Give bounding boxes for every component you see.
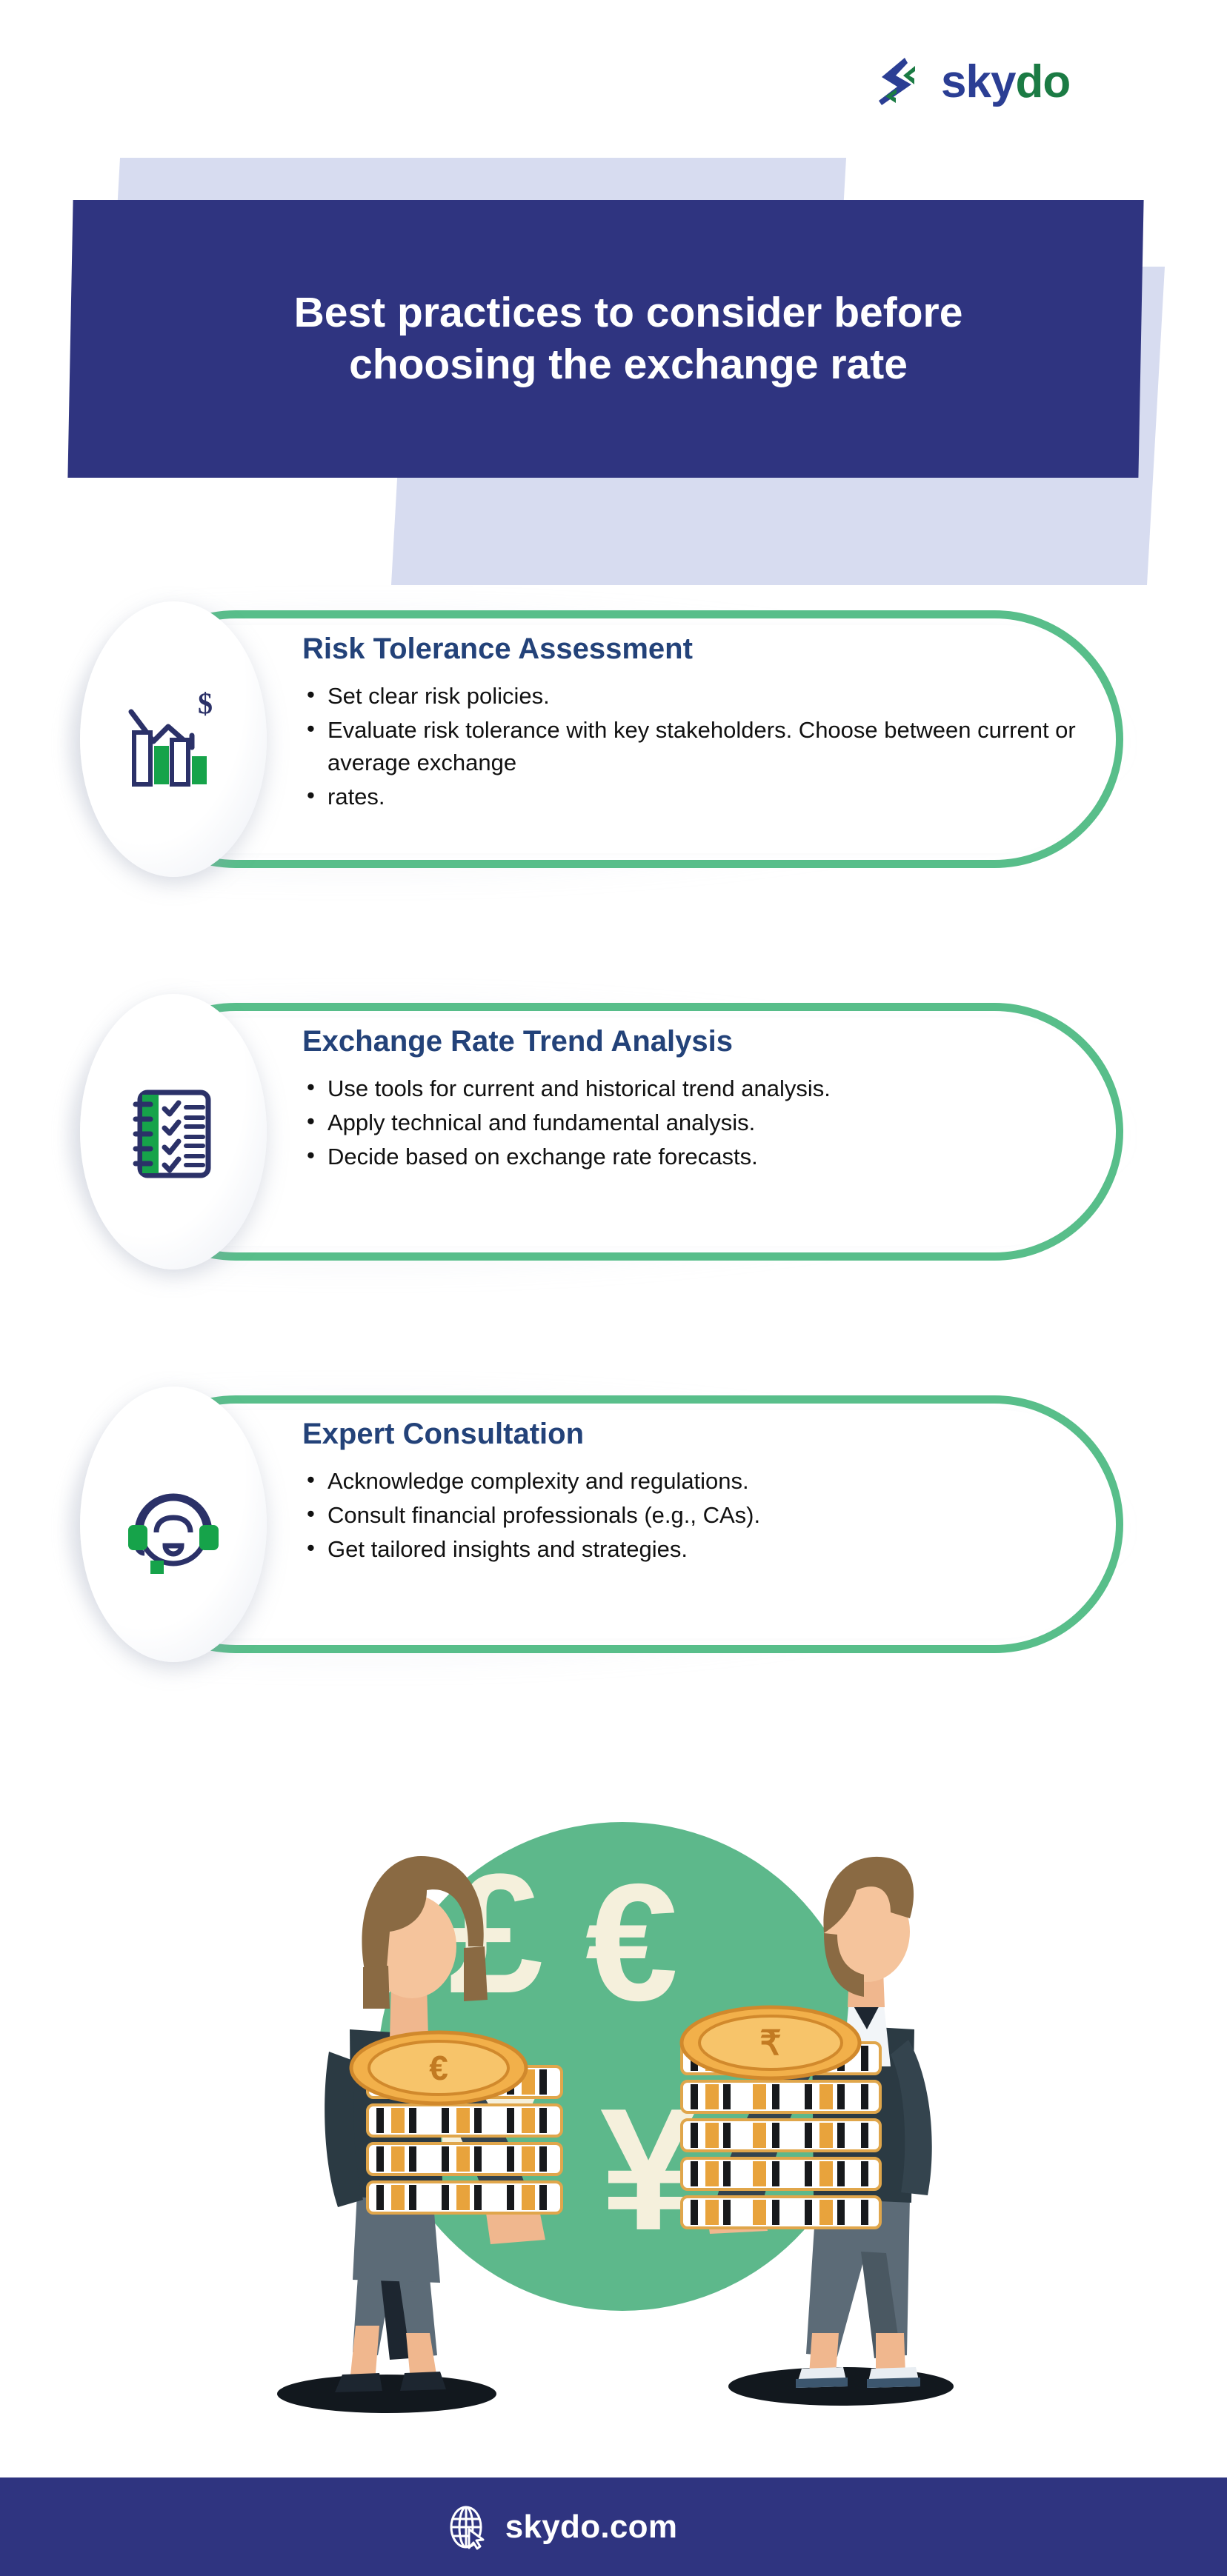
card-bullet-list: Use tools for current and historical tre… bbox=[302, 1072, 1110, 1173]
declining-bar-chart-dollar-icon: $ bbox=[118, 684, 229, 795]
card-text: Expert Consultation Acknowledge complexi… bbox=[302, 1416, 1110, 1567]
list-item: Get tailored insights and strategies. bbox=[302, 1533, 1110, 1566]
headset-support-agent-icon bbox=[118, 1469, 229, 1580]
checklist-notepad-icon bbox=[118, 1076, 229, 1187]
footer-bar: skydo.com bbox=[0, 2477, 1227, 2576]
globe-cursor-icon bbox=[446, 2504, 489, 2550]
svg-text:€: € bbox=[585, 1849, 678, 2035]
card-text: Exchange Rate Trend Analysis Use tools f… bbox=[302, 1024, 1110, 1175]
page-title: Best practices to consider before choosi… bbox=[236, 287, 1021, 390]
coin-symbol-left: € bbox=[429, 2049, 448, 2087]
practice-card[interactable]: Exchange Rate Trend Analysis Use tools f… bbox=[65, 998, 1162, 1272]
card-text: Risk Tolerance Assessment Set clear risk… bbox=[302, 631, 1110, 815]
header-banner-panel: Best practices to consider before choosi… bbox=[67, 200, 1143, 478]
list-item: Evaluate risk tolerance with key stakeho… bbox=[302, 714, 1110, 779]
card-icon-badge bbox=[80, 1387, 267, 1662]
card-icon-badge bbox=[80, 994, 267, 1269]
list-item: Acknowledge complexity and regulations. bbox=[302, 1465, 1110, 1498]
header-banner: Best practices to consider before choosi… bbox=[0, 137, 1227, 515]
logo-word-do: do bbox=[1015, 56, 1070, 107]
practice-card[interactable]: Expert Consultation Acknowledge complexi… bbox=[65, 1391, 1162, 1665]
list-item: Set clear risk policies. bbox=[302, 680, 1110, 713]
list-item: Consult financial professionals (e.g., C… bbox=[302, 1499, 1110, 1532]
skydo-chevron-logo-icon bbox=[873, 53, 931, 111]
logo-word-sky: sky bbox=[941, 56, 1015, 107]
practice-card[interactable]: $ Risk Tolerance Assessment Set clear ri… bbox=[65, 606, 1162, 880]
ground-shadow-left bbox=[277, 2375, 496, 2413]
svg-text:$: $ bbox=[198, 687, 213, 720]
card-icon-badge: $ bbox=[80, 601, 267, 877]
card-bullet-list: Acknowledge complexity and regulations. … bbox=[302, 1465, 1110, 1566]
card-bullet-list: Set clear risk policies. Evaluate risk t… bbox=[302, 680, 1110, 813]
coin-symbol-right: ₹ bbox=[759, 2023, 781, 2062]
logo-wordmark: skydo bbox=[941, 59, 1070, 105]
card-title: Expert Consultation bbox=[302, 1416, 1110, 1452]
brand-logo[interactable]: skydo bbox=[873, 53, 1070, 111]
list-item: Decide based on exchange rate forecasts. bbox=[302, 1141, 1110, 1173]
footer-website-url[interactable]: skydo.com bbox=[505, 2509, 678, 2546]
list-item: Apply technical and fundamental analysis… bbox=[302, 1107, 1110, 1139]
card-title: Exchange Rate Trend Analysis bbox=[302, 1024, 1110, 1059]
list-item: Use tools for current and historical tre… bbox=[302, 1072, 1110, 1105]
card-title: Risk Tolerance Assessment bbox=[302, 631, 1110, 667]
list-item: rates. bbox=[302, 781, 1110, 813]
svg-text:£: £ bbox=[448, 1838, 543, 2029]
two-people-carrying-coin-stacks-illustration: £ € ₹ ¥ bbox=[252, 1748, 978, 2437]
